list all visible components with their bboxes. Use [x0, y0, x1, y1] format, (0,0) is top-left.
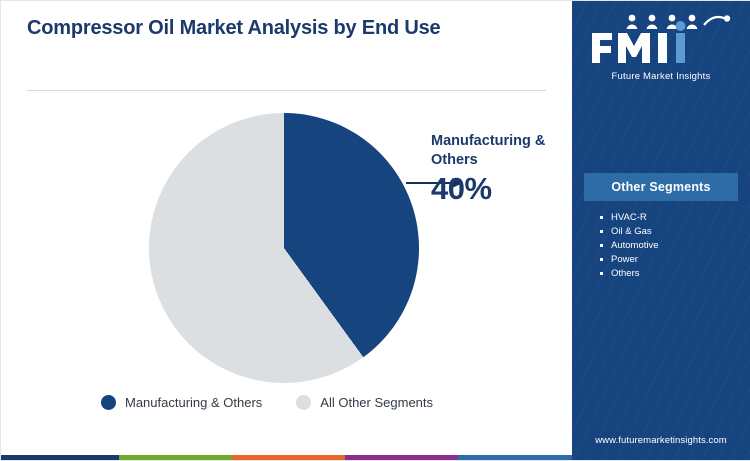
fmi-logo-icon	[586, 11, 736, 63]
website-url[interactable]: www.futuremarketinsights.com	[572, 435, 750, 446]
color-bar-segment	[345, 455, 458, 460]
list-item: Others	[600, 267, 740, 281]
legend-item: All Other Segments	[296, 395, 433, 410]
brand-logo: Future Market Insights	[572, 11, 750, 82]
sidebar: Future Market Insights Other Segments HV…	[572, 1, 750, 460]
legend-label: Manufacturing & Others	[125, 395, 262, 410]
logo-subtitle: Future Market Insights	[572, 71, 750, 82]
other-segments-title: Other Segments	[611, 180, 710, 194]
color-bar	[1, 455, 572, 460]
color-bar-segment	[1, 455, 119, 460]
callout-value: 40%	[431, 171, 492, 207]
list-item: Automotive	[600, 239, 740, 253]
list-item: HVAC-R	[600, 211, 740, 225]
color-bar-segment	[119, 455, 232, 460]
color-bar-segment	[458, 455, 572, 460]
list-item: Oil & Gas	[600, 225, 740, 239]
infographic-page: Compressor Oil Market Analysis by End Us…	[0, 0, 750, 461]
other-segments-header: Other Segments	[584, 173, 738, 201]
page-title: Compressor Oil Market Analysis by End Us…	[27, 15, 447, 42]
pie-chart	[149, 113, 419, 383]
legend-swatch-icon	[101, 395, 116, 410]
color-bar-segment	[232, 455, 345, 460]
list-item: Power	[600, 253, 740, 267]
title-divider	[27, 90, 546, 91]
other-segments-list: HVAC-R Oil & Gas Automotive Power Others	[600, 211, 740, 281]
legend-item: Manufacturing & Others	[101, 395, 262, 410]
callout-label: Manufacturing & Others	[431, 132, 581, 170]
legend-label: All Other Segments	[320, 395, 433, 410]
chart-panel: Compressor Oil Market Analysis by End Us…	[1, 1, 572, 460]
pie-slices	[149, 113, 419, 383]
legend-swatch-icon	[296, 395, 311, 410]
chart-legend: Manufacturing & Others All Other Segment…	[101, 395, 433, 410]
